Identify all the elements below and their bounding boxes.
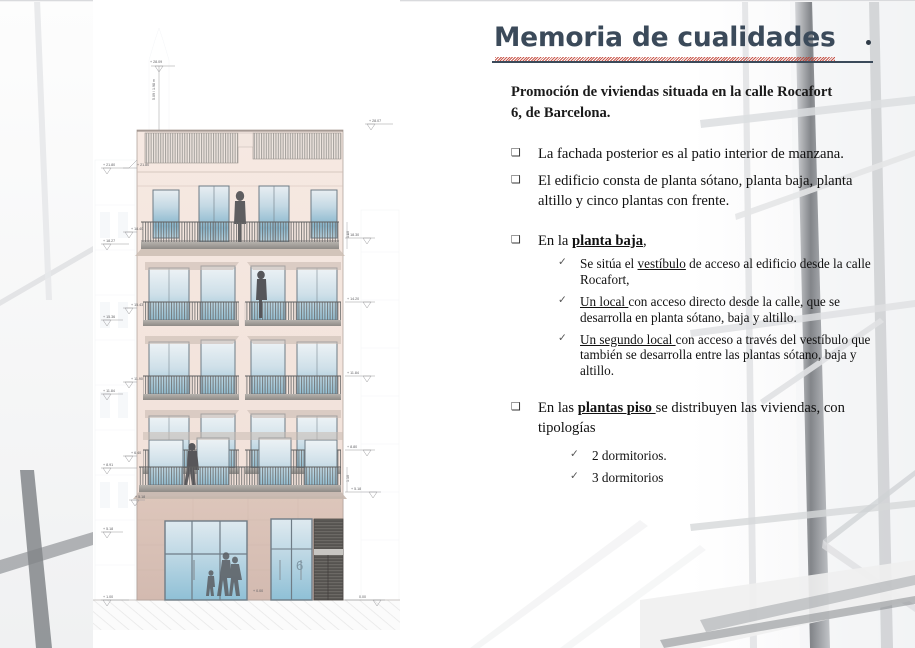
emphasis-fragment: Un local: [580, 294, 628, 309]
list-item: ✓ Un segundo local con acceso a través d…: [558, 332, 885, 380]
door-number-label: 6: [296, 558, 303, 573]
list-item-text: 3 dormitorios: [592, 470, 663, 485]
svg-text:+ 14.20: + 14.20: [347, 297, 359, 301]
svg-text:+ 11.84: + 11.84: [103, 389, 115, 393]
page-title: Memoria de cualidades: [489, 24, 876, 55]
emphasis-fragment: planta baja: [572, 233, 643, 249]
title-underline-rule: [492, 61, 873, 63]
title-block: Memoria de cualidades: [489, 24, 876, 55]
text-fragment: En la: [538, 233, 572, 249]
list-item-text: Se sitúa el vestíbulo de acceso al edifi…: [580, 256, 871, 287]
svg-text:+ 28.09: + 28.09: [150, 60, 162, 64]
check-bullet-icon: ✓: [558, 332, 567, 345]
list-item-text: El edificio consta de planta sótano, pla…: [538, 173, 852, 209]
lead-paragraph: Promoción de viviendas situada en la cal…: [511, 82, 841, 123]
emphasis-fragment: vestíbulo: [638, 256, 686, 271]
svg-text:+ 6.40: + 6.40: [131, 451, 141, 455]
spacer: [489, 219, 889, 232]
list-item-text: En la planta baja,: [538, 233, 647, 249]
list-item: ✓ Se sitúa el vestíbulo de acceso al edi…: [558, 256, 885, 288]
svg-text:+ 8.91: + 8.91: [103, 463, 113, 467]
text-fragment: Se sitúa el: [580, 256, 638, 271]
list-item-text: En las plantas piso se distribuyen las v…: [538, 400, 845, 436]
list-item: ✓ 2 dormitorios.: [570, 448, 897, 464]
svg-text:+ 5.18: + 5.18: [351, 487, 361, 491]
svg-text:+ 8.80: + 8.80: [347, 445, 357, 449]
svg-text:+ 5.18: + 5.18: [135, 495, 145, 499]
emphasis-fragment: plantas piso: [578, 400, 656, 416]
list-item: ✓ 3 dormitorios: [570, 470, 897, 486]
open-square-bullet-icon: ❑: [511, 233, 521, 248]
svg-text:+ 18.40: + 18.40: [131, 227, 143, 231]
svg-text:+ 21.80: + 21.80: [103, 163, 115, 167]
list-item-text: Un local con acceso directo desde la cal…: [580, 294, 840, 325]
list-item: ❑ El edificio consta de planta sótano, p…: [511, 172, 860, 212]
list-item-text: La fachada posterior es al patio interio…: [538, 146, 844, 162]
svg-text:1.10: 1.10: [346, 231, 350, 238]
list-item-text: Un segundo local con acceso a través del…: [580, 332, 870, 379]
list-item: ❑ En las plantas piso se distribuyen las…: [511, 399, 860, 486]
list-item: ❑ La fachada posterior es al patio inter…: [511, 145, 860, 165]
content-panel: Memoria de cualidades Promoción de vivie…: [489, 24, 889, 604]
spacer: [489, 386, 889, 399]
svg-text:+ 0.00: + 0.00: [253, 589, 263, 593]
check-bullet-icon: ✓: [570, 470, 579, 483]
check-bullet-icon: ✓: [570, 448, 579, 461]
title-end-dot: [866, 40, 871, 45]
svg-text:+ 5.18: + 5.18: [103, 527, 113, 531]
svg-text:+ 21.80: + 21.80: [137, 163, 149, 167]
svg-text:+ 11.90: + 11.90: [131, 377, 143, 381]
slide-canvas: UBC: [0, 0, 915, 648]
svg-text:+ 11.84: + 11.84: [347, 371, 359, 375]
svg-text:+ 1.00: + 1.00: [103, 595, 113, 599]
text-fragment: ,: [643, 233, 647, 249]
svg-text:+ 15.43: + 15.43: [131, 303, 143, 307]
svg-text:0.00: 0.00: [359, 595, 366, 599]
emphasis-fragment: Un segundo local: [580, 332, 676, 347]
bullet-list: ❑ La fachada posterior es al patio inter…: [489, 145, 889, 486]
text-fragment: En las: [538, 400, 578, 416]
svg-text:5.09 / 1.98 m: 5.09 / 1.98 m: [152, 79, 156, 100]
list-item: ❑ En la planta baja, ✓ Se sitúa el vestí…: [511, 232, 860, 380]
open-square-bullet-icon: ❑: [511, 173, 521, 188]
svg-text:+ 15.36: + 15.36: [103, 315, 115, 319]
list-item: ✓ Un local con acceso directo desde la c…: [558, 294, 885, 326]
building-elevation-drawing: UBC: [93, 0, 400, 640]
sub-bullet-list: ✓ Se sitúa el vestíbulo de acceso al edi…: [538, 256, 860, 380]
svg-text:+ 28.07: + 28.07: [369, 119, 381, 123]
svg-text:1.10: 1.10: [346, 475, 350, 482]
check-bullet-icon: ✓: [558, 294, 567, 307]
svg-text:+ 18.27: + 18.27: [103, 239, 115, 243]
check-bullet-icon: ✓: [558, 256, 567, 269]
open-square-bullet-icon: ❑: [511, 400, 521, 415]
list-item-text: 2 dormitorios.: [592, 448, 667, 463]
sub-bullet-list: ✓ 2 dormitorios. ✓ 3 dormitorios: [538, 448, 860, 486]
open-square-bullet-icon: ❑: [511, 146, 521, 161]
